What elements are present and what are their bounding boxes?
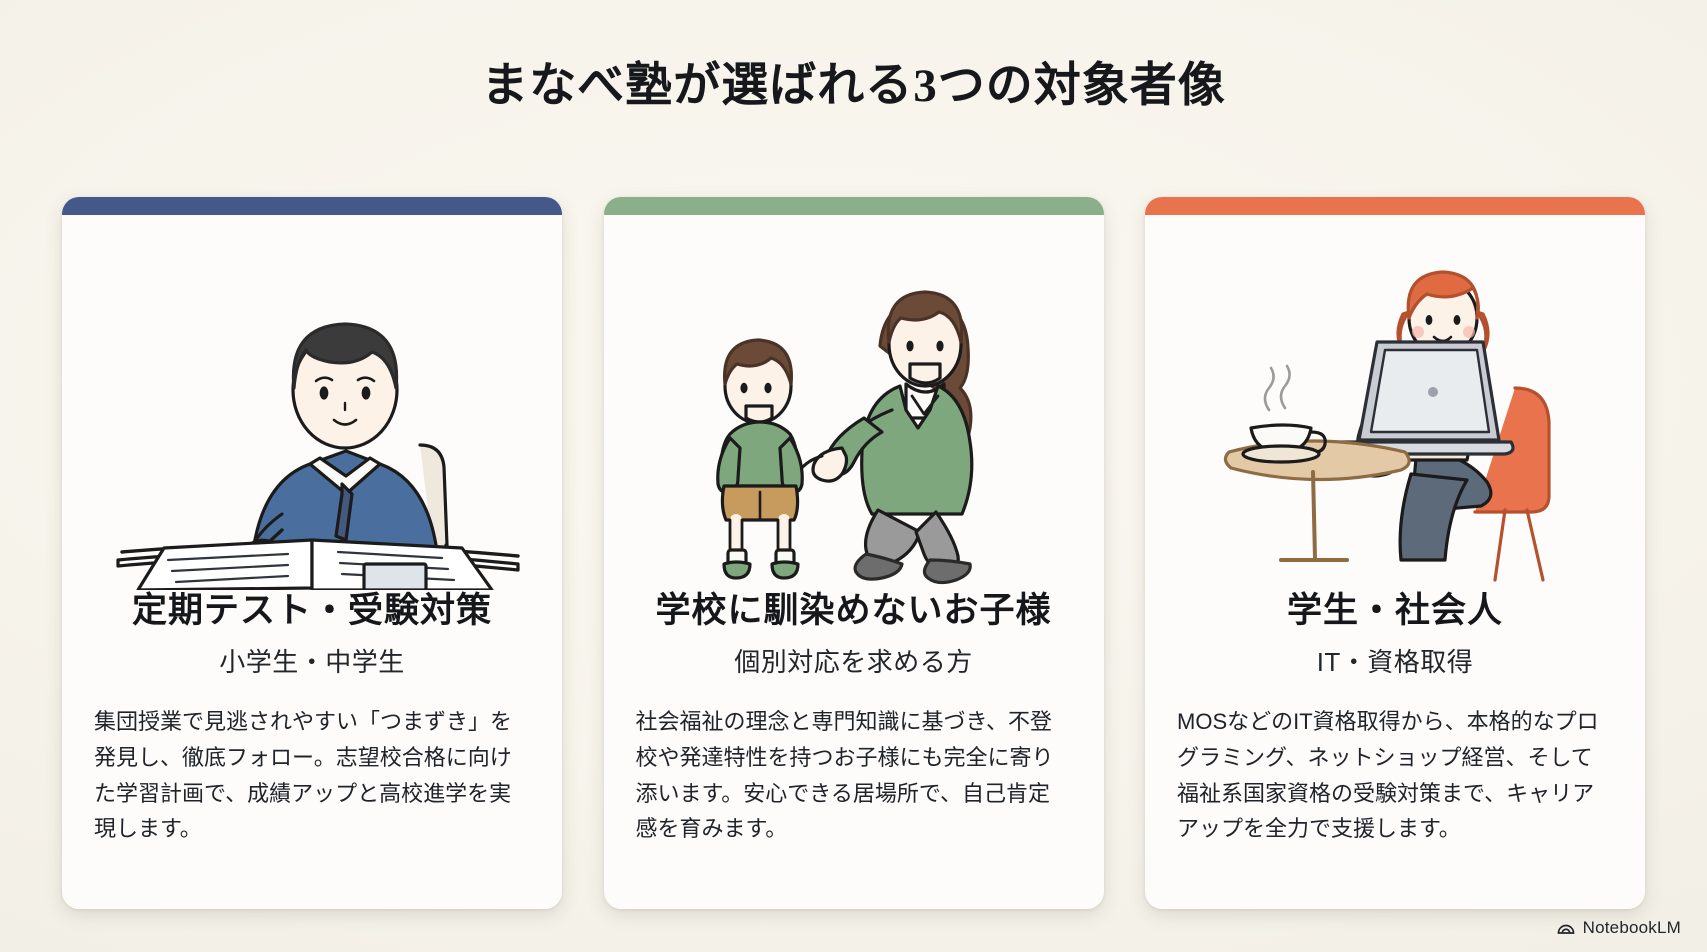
card-text-block: 学生・社会人 IT・資格取得 MOSなどのIT資格取得から、本格的なプログラミン…: [1145, 590, 1645, 847]
card-title: 定期テスト・受験対策: [88, 590, 536, 631]
card-item[interactable]: 学校に馴染めないお子様 個別対応を求める方 社会福祉の理念と専門知識に基づき、不…: [604, 197, 1104, 909]
card-subtitle: 小学生・中学生: [88, 642, 536, 679]
card-accent-bar: [1145, 197, 1645, 215]
card-title: 学生・社会人: [1171, 590, 1619, 631]
card-description: 社会福祉の理念と専門知識に基づき、不登校や発達特性を持つお子様にも完全に寄り添い…: [630, 704, 1078, 847]
card-item[interactable]: 定期テスト・受験対策 小学生・中学生 集団授業で見逃されやすい「つまずき」を発見…: [62, 197, 562, 909]
card-item[interactable]: 学生・社会人 IT・資格取得 MOSなどのIT資格取得から、本格的なプログラミン…: [1145, 197, 1645, 909]
page-title-wrapper: まなべ塾が選ばれる3つの対象者像: [0, 46, 1707, 115]
card-accent-bar: [62, 197, 562, 215]
page-title: まなべ塾が選ばれる3つの対象者像: [481, 46, 1226, 115]
student-studying-at-desk-illustration: [102, 260, 522, 590]
card-description: 集団授業で見逃されやすい「つまずき」を発見し、徹底フォロー。志望校合格に向けた学…: [88, 704, 536, 847]
card-subtitle: 個別対応を求める方: [630, 642, 1078, 679]
card-illustration: [604, 215, 1104, 590]
card-subtitle: IT・資格取得: [1171, 642, 1619, 679]
card-description: MOSなどのIT資格取得から、本格的なプログラミング、ネットショップ経営、そして…: [1171, 704, 1619, 847]
card-text-block: 定期テスト・受験対策 小学生・中学生 集団授業で見逃されやすい「つまずき」を発見…: [62, 590, 562, 847]
parent-talking-with-child-illustration: [644, 260, 1064, 590]
adult-working-on-laptop-illustration: [1185, 260, 1605, 590]
card-illustration: [1145, 215, 1645, 590]
card-list: 定期テスト・受験対策 小学生・中学生 集団授業で見逃されやすい「つまずき」を発見…: [62, 197, 1645, 909]
notebooklm-label: NotebookLM: [1583, 918, 1681, 938]
card-accent-bar: [604, 197, 1104, 215]
card-text-block: 学校に馴染めないお子様 個別対応を求める方 社会福祉の理念と専門知識に基づき、不…: [604, 590, 1104, 847]
card-illustration: [62, 215, 562, 590]
notebooklm-watermark: NotebookLM: [1556, 918, 1681, 938]
notebooklm-spiral-icon: [1556, 918, 1576, 938]
card-title: 学校に馴染めないお子様: [630, 590, 1078, 631]
